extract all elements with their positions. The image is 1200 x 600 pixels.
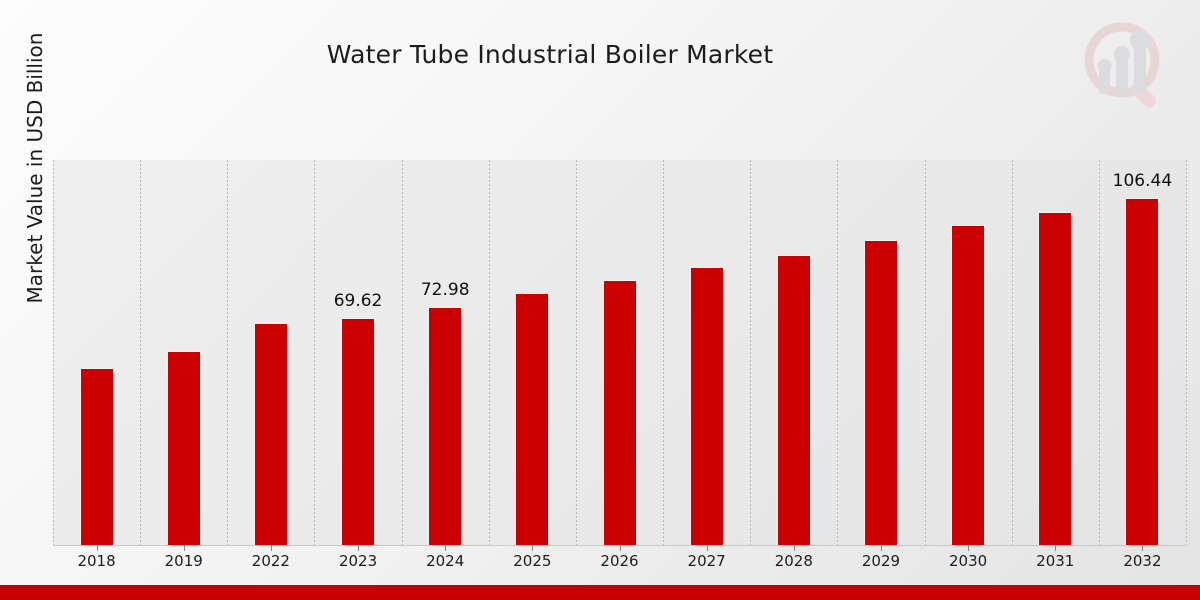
x-axis-label: 2032 <box>1097 552 1187 570</box>
x-axis-tick <box>184 545 185 551</box>
bar <box>1038 212 1072 545</box>
gridline <box>402 160 403 545</box>
gridline <box>576 160 577 545</box>
x-axis-tick <box>532 545 533 551</box>
x-axis-label: 2031 <box>1010 552 1100 570</box>
page-title: Water Tube Industrial Boiler Market <box>0 40 1100 69</box>
gridline <box>1099 160 1100 545</box>
x-axis-tick <box>97 545 98 551</box>
x-axis-label: 2030 <box>923 552 1013 570</box>
x-axis-label: 2027 <box>662 552 752 570</box>
bar <box>341 318 375 545</box>
y-axis-title: Market Value in USD Billion <box>22 0 48 363</box>
x-axis-label: 2028 <box>749 552 839 570</box>
x-axis-label: 2018 <box>52 552 142 570</box>
x-axis-tick <box>794 545 795 551</box>
bar <box>777 255 811 545</box>
x-axis-tick <box>881 545 882 551</box>
x-axis-tick <box>1055 545 1056 551</box>
gridline <box>1186 160 1187 545</box>
gridline <box>489 160 490 545</box>
x-axis-label: 2025 <box>487 552 577 570</box>
bar <box>80 368 114 545</box>
x-axis-tick <box>271 545 272 551</box>
x-axis-tick <box>968 545 969 551</box>
x-axis-label: 2022 <box>226 552 316 570</box>
x-axis-label: 2019 <box>139 552 229 570</box>
gridline <box>1012 160 1013 545</box>
x-axis-tick <box>620 545 621 551</box>
gridline <box>925 160 926 545</box>
x-axis-tick <box>445 545 446 551</box>
x-axis-tick <box>1142 545 1143 551</box>
x-axis-tick <box>358 545 359 551</box>
gridline <box>53 160 54 545</box>
gridline <box>314 160 315 545</box>
bar-value-label: 72.98 <box>400 280 490 300</box>
gridline <box>750 160 751 545</box>
bar <box>1125 198 1159 545</box>
gridline <box>663 160 664 545</box>
bar <box>603 280 637 545</box>
bar <box>864 240 898 545</box>
gridline <box>837 160 838 545</box>
bar-value-label: 69.62 <box>313 291 403 311</box>
bar <box>167 351 201 545</box>
x-axis-label: 2029 <box>836 552 926 570</box>
bar <box>951 225 985 545</box>
bar <box>254 323 288 545</box>
magnifier-bar-chart-logo <box>1075 18 1175 113</box>
footer-accent-band <box>0 585 1200 600</box>
x-axis-label: 2023 <box>313 552 403 570</box>
bar <box>690 267 724 545</box>
x-axis-label: 2024 <box>400 552 490 570</box>
gridline <box>140 160 141 545</box>
x-axis-tick <box>707 545 708 551</box>
bar-value-label: 106.44 <box>1097 171 1187 191</box>
x-axis-label: 2026 <box>575 552 665 570</box>
bar <box>515 293 549 545</box>
bar <box>428 307 462 545</box>
gridline <box>227 160 228 545</box>
